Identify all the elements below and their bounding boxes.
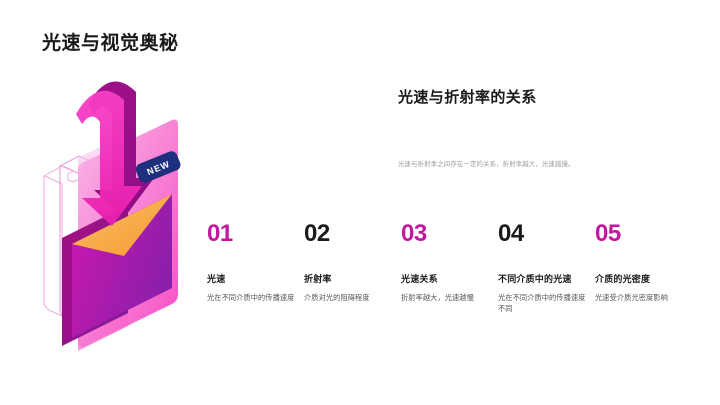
item-title: 不同介质中的光速 xyxy=(498,272,594,285)
item-title: 光速关系 xyxy=(401,272,497,285)
section-description: 光速与折射率之间存在一定的关系，折射率越大，光速越慢。 xyxy=(398,160,673,170)
page-title: 光速与视觉奥秘 xyxy=(42,28,179,55)
item-title: 介质的光密度 xyxy=(595,272,691,285)
item-description: 光速受介质光密度影响 xyxy=(595,292,683,303)
illustration-isometric-envelope: NEW xyxy=(24,58,214,358)
list-item: 05 介质的光密度 光速受介质光密度影响 xyxy=(595,222,691,303)
item-title: 折射率 xyxy=(304,272,400,285)
list-item: 04 不同介质中的光速 光在不同介质中的传播速度不同 xyxy=(498,222,594,314)
item-description: 折射率越大，光速越慢 xyxy=(401,292,489,303)
item-description: 介质对光的阻碍程度 xyxy=(304,292,392,303)
item-number: 01 xyxy=(207,222,303,246)
item-number: 05 xyxy=(595,222,691,246)
item-number: 04 xyxy=(498,222,594,246)
item-description: 光在不同介质中的传播速度不同 xyxy=(498,292,586,314)
list-item: 01 光速 光在不同介质中的传播速度 xyxy=(207,222,303,303)
items-row: 01 光速 光在不同介质中的传播速度 02 折射率 介质对光的阻碍程度 03 光… xyxy=(207,222,707,332)
item-number: 02 xyxy=(304,222,400,246)
envelope-inner-edge xyxy=(62,238,72,346)
item-description: 光在不同介质中的传播速度 xyxy=(207,292,295,303)
item-title: 光速 xyxy=(207,272,303,285)
item-number: 03 xyxy=(401,222,497,246)
section-heading: 光速与折射率的关系 xyxy=(398,86,537,107)
list-item: 02 折射率 介质对光的阻碍程度 xyxy=(304,222,400,303)
slide-canvas: 光速与视觉奥秘 xyxy=(0,0,720,405)
list-item: 03 光速关系 折射率越大，光速越慢 xyxy=(401,222,497,303)
